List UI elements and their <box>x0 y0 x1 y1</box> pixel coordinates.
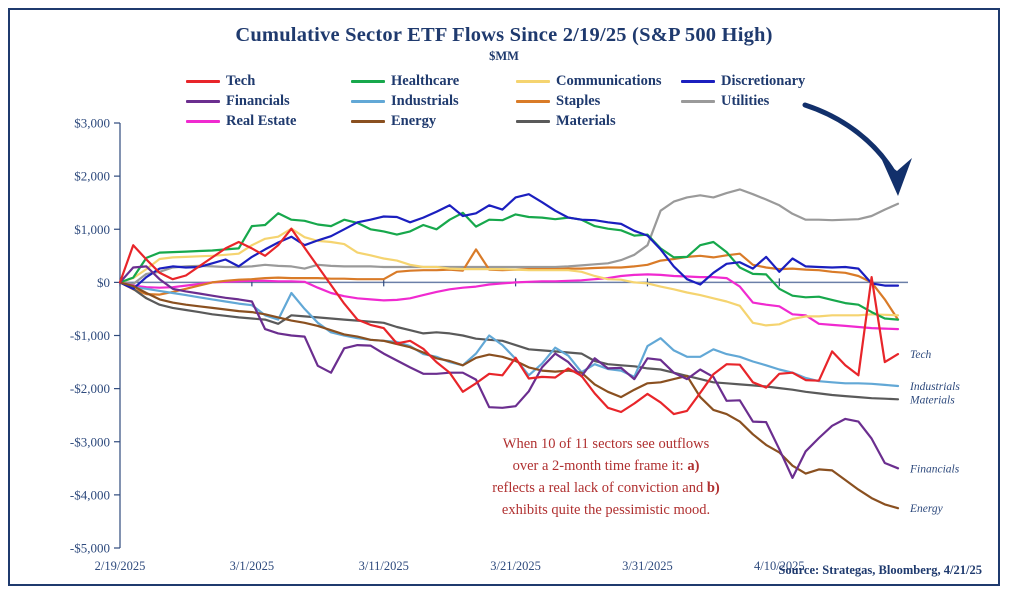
annotation-text: reflects a real lack of conviction and <box>492 480 707 496</box>
annotation-line: reflects a real lack of conviction and b… <box>492 480 720 496</box>
chart-plot-area: $3,000$2,000$1,000$0-$1,000-$2,000-$3,00… <box>10 10 1002 588</box>
x-tick-label: 3/11/2025 <box>359 559 409 573</box>
series-line-discretionary[interactable] <box>120 194 898 289</box>
x-tick-label: 3/1/2025 <box>230 559 274 573</box>
x-tick-label: 2/19/2025 <box>95 559 146 573</box>
series-line-staples[interactable] <box>120 249 898 319</box>
end-label-industrials: Industrials <box>909 381 960 393</box>
chart-frame: Cumulative Sector ETF Flows Since 2/19/2… <box>8 8 1000 586</box>
annotation-callout: When 10 of 11 sectors see outflowsover a… <box>492 436 720 518</box>
series-line-tech[interactable] <box>120 229 898 414</box>
y-tick-label: -$5,000 <box>70 541 110 556</box>
series-line-industrials[interactable] <box>120 282 898 386</box>
x-axis: 2/19/20253/1/20253/11/20253/21/20253/31/… <box>95 278 805 573</box>
x-tick-label: 3/31/2025 <box>622 559 673 573</box>
y-tick-label: -$4,000 <box>70 487 110 502</box>
x-tick-label: 3/21/2025 <box>490 559 541 573</box>
annotation-text: over a 2-month time frame it: <box>513 458 688 474</box>
end-label-materials: Materials <box>909 394 955 406</box>
end-label-tech: Tech <box>910 349 932 361</box>
annotation-line: exhibits quite the pessimistic mood. <box>502 502 710 518</box>
end-label-financials: Financials <box>909 463 960 475</box>
y-tick-label: $1,000 <box>74 222 110 237</box>
y-tick-label: $3,000 <box>74 116 110 131</box>
y-tick-label: -$3,000 <box>70 434 110 449</box>
source-note: Source: Strategas, Bloomberg, 4/21/25 <box>778 563 982 578</box>
series-lines <box>120 189 898 508</box>
annotation-line: When 10 of 11 sectors see outflows <box>503 436 710 452</box>
y-tick-label: -$2,000 <box>70 381 110 396</box>
y-tick-label: $2,000 <box>74 169 110 184</box>
utilities-pointer-arrow <box>805 105 912 196</box>
end-label-energy: Energy <box>909 503 944 515</box>
y-tick-label: -$1,000 <box>70 328 110 343</box>
annotation-emphasis: a) <box>687 458 699 474</box>
y-tick-label: $0 <box>97 275 110 290</box>
annotation-emphasis: b) <box>707 480 720 496</box>
series-end-labels: TechFinancialsIndustrialsEnergyMaterials <box>909 349 960 515</box>
annotation-line: over a 2-month time frame it: a) <box>513 458 700 474</box>
